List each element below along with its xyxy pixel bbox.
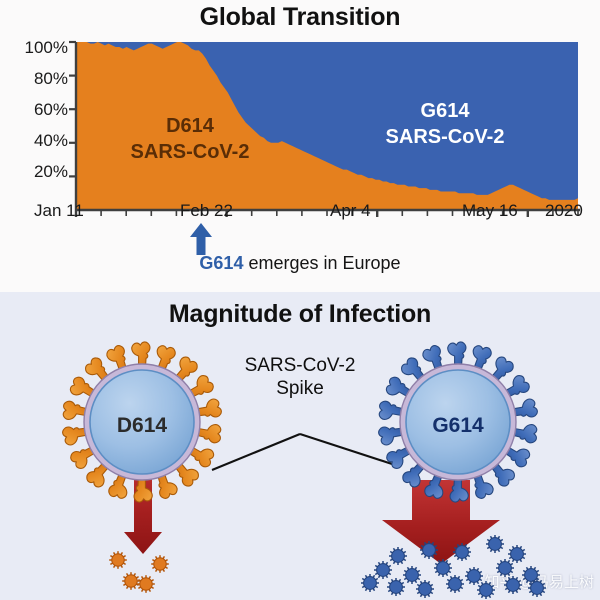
series-label-g614-line2: SARS-CoV-2 <box>386 126 505 148</box>
series-label-d614-line2: SARS-CoV-2 <box>131 141 250 163</box>
virus-particle <box>434 559 452 577</box>
virus-particle <box>361 574 379 592</box>
annotation-rest-text: emerges in Europe <box>243 253 400 273</box>
virus-particle <box>477 581 495 599</box>
virion-g614 <box>377 342 538 502</box>
g614-emergence-up-arrow <box>188 222 214 256</box>
x-axis-year-label: 2020 <box>545 202 583 219</box>
g614-emergence-annotation: G614 emerges in Europe <box>0 253 600 274</box>
virus-particle <box>137 575 155 593</box>
virus-particle <box>446 575 464 593</box>
virus-particle <box>416 580 434 598</box>
x-axis-labels: Jan 11 Feb 22 Apr 4 May 16 2020 <box>0 202 600 228</box>
virus-particle <box>109 551 127 569</box>
x-tick-label-jan-11: Jan 11 <box>34 202 84 219</box>
x-tick-label-apr-4: Apr 4 <box>330 202 371 219</box>
virus-particle <box>486 535 504 553</box>
spike-leader-lines <box>212 434 392 470</box>
infection-diagram-svg <box>0 292 600 600</box>
virus-particle <box>465 567 483 585</box>
virus-particle <box>374 561 392 579</box>
d614-released-particles <box>109 551 169 593</box>
chart-svg: D614 SARS-CoV-2 G614 SARS-CoV-2 <box>0 32 600 217</box>
virus-particle <box>389 547 407 565</box>
top-panel: Global Transition 100% 80% 60% 40% 20% <box>0 0 600 292</box>
virus-particle <box>508 545 526 563</box>
virus-particle <box>496 559 514 577</box>
virus-particle <box>151 555 169 573</box>
figure-root: Global Transition 100% 80% 60% 40% 20% <box>0 0 600 600</box>
series-label-d614-line1: D614 <box>166 115 215 137</box>
virus-particle <box>122 572 140 590</box>
series-label-g614-line1: G614 <box>421 100 471 122</box>
x-tick-label-may-16: May 16 <box>462 202 518 219</box>
virion-d614 <box>61 342 222 502</box>
page-title-global-transition: Global Transition <box>0 3 600 32</box>
virus-particle <box>504 576 522 594</box>
virus-particle <box>387 578 405 596</box>
stacked-area-chart: D614 SARS-CoV-2 G614 SARS-CoV-2 <box>0 32 600 217</box>
annotation-highlight-g614: G614 <box>199 253 243 273</box>
x-tick-label-feb-22: Feb 22 <box>180 202 233 219</box>
virus-particle <box>403 566 421 584</box>
